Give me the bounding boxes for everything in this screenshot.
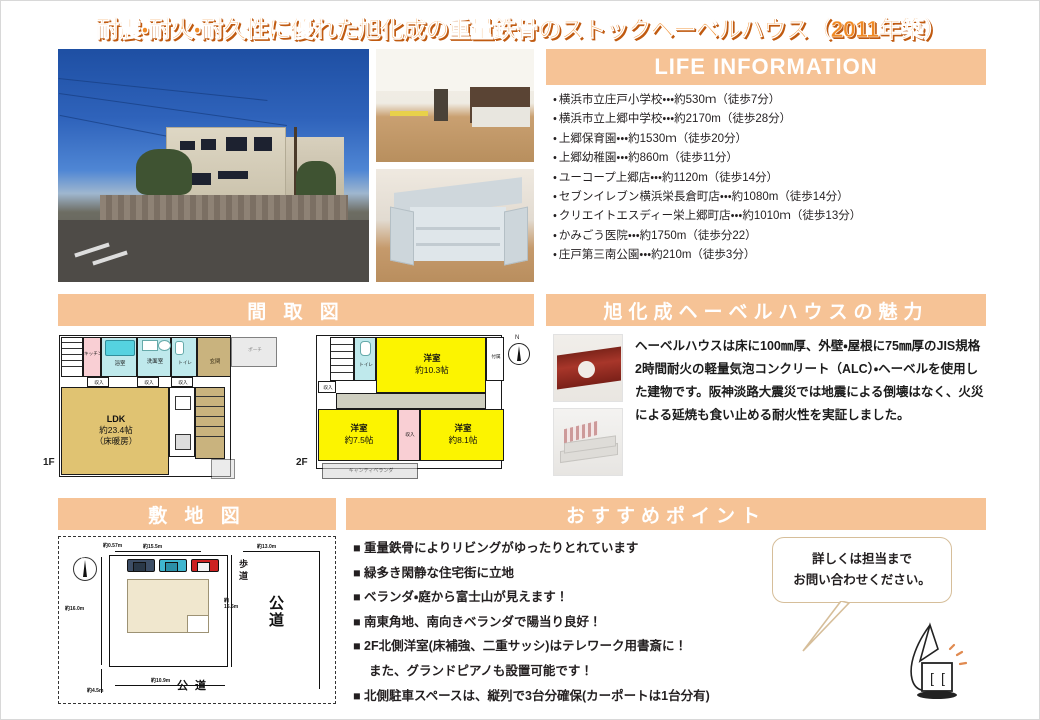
room-bathroom-1f[interactable]: 浴室 [101,337,137,377]
dimension-top: 約15.5m [143,543,162,550]
alc-panel-photo [553,408,623,476]
car-1 [127,559,155,572]
living-room-kitchen-photo [376,49,534,162]
page-title: 耐震・耐火・耐久性に優れた旭化成の重量鉄骨のストックヘーベルハウス（2011年築… [96,10,946,44]
flyer-title-bar: 耐震・耐火・耐久性に優れた旭化成の重量鉄骨のストックヘーベルハウス（2011年築… [1,9,1040,45]
list-item: 上郷保育園・・・約1530ｍ（徒歩20分） [553,130,989,149]
public-road-right-label: 公道 [265,595,286,629]
room-balcony-2f[interactable]: キャンティベランダ [322,463,418,479]
dimension-right: 約15.5m [224,599,236,610]
list-item: クリエイトエスディー栄上郷町店・・・約1010ｍ（徒歩13分） [553,207,989,226]
site-plan-frame: N 約0.57m 約15.5m 約13.0m 約16.0m 約15.5m 約10… [58,536,336,704]
svg-text:[: [ [941,670,945,686]
floor-plan-1f: キッチン 浴室 洗面室 トイレ 玄関 [59,331,279,479]
list-item: 横浜市立庄戸小学校・・・約530ｍ（徒歩7分） [553,91,989,110]
room-label-ldk-size: 約23.4帖 [62,426,170,436]
kitchen-cabinet-photo [376,169,534,282]
life-information-header: LIFE INFORMATION [546,49,986,85]
room-label: 付属 [487,354,505,359]
room-western-7-2f[interactable]: 洋室 約7.5帖 [318,409,398,461]
hebel-image-column [553,334,625,482]
room-label: 玄関 [198,360,232,365]
floor-plan-2f: トイレ 洋室 約10.3帖 付属 収入 洋室 約7.5帖 [316,331,526,479]
site-plan-header: 敷 地 図 [58,498,336,530]
list-item: また、グランドピアノも設置可能です！ [353,659,873,684]
room-label: 収入 [319,385,337,390]
room-label: トイレ [355,362,377,367]
room-stairs-2f [330,337,354,381]
sidewalk-label: 歩道 [237,559,250,583]
room-label-ldk-note: （床暖房） [62,437,170,447]
stair-hall-1f [195,387,225,459]
room-closet-2f[interactable]: 収入 [398,409,420,461]
room-kitchen-pantry-1f[interactable]: キッチン [83,337,101,377]
room-stairs-1f [61,337,83,377]
car-2 [159,559,187,572]
floor-2-label: 2F [296,457,308,468]
room-ldk-1f[interactable]: LDK 約23.4帖 （床暖房） [61,387,169,475]
recommended-points-header: おすすめポイント [346,498,986,530]
room-western-8-2f[interactable]: 洋室 約8.1帖 [420,409,504,461]
recommended-points-title: おすすめポイント [566,501,766,528]
list-item: ユーコープ上郷店・・・約1120m（徒歩14分） [553,169,989,188]
list-item: 北側駐車スペースは、縦列で3台分確保(カーポートは1台分有) [353,684,873,709]
dimension-bottom-left: 約4.5m [87,687,103,694]
compass-north-label: N [81,557,85,563]
dimension-left: 約16.0m [65,605,84,612]
site-plan-title: 敷 地 図 [148,501,246,528]
hebel-charm-body: ヘーベルハウスは床に100㎜厚、外壁・屋根に75㎜厚のJIS規格2時間耐火の軽量… [635,335,987,427]
floor-plan-header: 間 取 図 [58,294,534,326]
room-label: トイレ [172,360,198,365]
dimension-bottom: 約10.9m [151,677,170,684]
room-label: 洗面室 [138,360,172,365]
speech-bubble-tail [801,601,861,653]
list-item: かみごう医院・・・約1750m（徒歩分22） [553,227,989,246]
room-toilet-1f[interactable]: トイレ [171,337,197,377]
room-label: 収入 [172,380,194,385]
list-item: 上郷幼稚園・・・約860m（徒歩11分） [553,149,989,168]
bubble-line-1: 詳しくは担当まで [812,549,912,570]
hebel-charm-title: 旭化成ヘーベルハウスの魅力 [603,297,928,324]
room-storage-2[interactable]: 収入 [137,377,159,387]
svg-text:[: [ [930,670,934,686]
room-label: 収入 [88,380,110,385]
dimension-top-right: 約13.0m [257,543,276,550]
room-attic-storage-2f[interactable]: 付属 [486,337,504,381]
room-toilet-2f[interactable]: トイレ [354,337,376,381]
room-label: 浴室 [102,362,138,367]
pen-and-house-mascot: [ [ [886,619,972,705]
room-label: 収入 [138,380,160,385]
floor-1-label: 1F [43,457,55,468]
list-item: セブンイレブン横浜栄長倉町店・・・約1080m（徒歩14分） [553,188,989,207]
life-information-list: 横浜市立庄戸小学校・・・約530ｍ（徒歩7分） 横浜市立上郷中学校・・・約217… [553,91,989,266]
hebel-charm-header: 旭化成ヘーベルハウスの魅力 [546,294,986,326]
room-entrance-1f[interactable]: 玄関 [197,337,231,377]
life-information-title: LIFE INFORMATION [654,54,877,80]
compass-icon: N [73,557,97,581]
list-item: 庄戸第三南公園・・・約210m（徒歩3分） [553,246,989,265]
rear-deck-1f [211,459,235,479]
list-item: 南東角地、南向きベランダで陽当り良好！ [353,610,873,635]
room-storage-3[interactable]: 収入 [171,377,193,387]
room-label-size: 約10.3帖 [377,366,487,376]
car-3 [191,559,219,572]
room-label-ldk-name: LDK [62,414,170,425]
list-item: 2F北側洋室(床補強、二重サッシ)はテレワーク用書斎に！ [353,634,873,659]
room-closet-small-2f[interactable]: 収入 [318,381,336,393]
room-label: 収入 [399,432,421,437]
room-label: キャンティベランダ [323,469,419,474]
room-label-size: 約7.5帖 [319,436,399,446]
bubble-line-2: お問い合わせください。 [793,570,931,591]
room-label-size: 約8.1帖 [421,436,505,446]
floor-plan-title: 間 取 図 [247,297,345,324]
hall-2f [336,393,486,409]
flyer-page: 耐震・耐火・耐久性に優れた旭化成の重量鉄骨のストックヘーベルハウス（2011年築… [0,0,1040,720]
room-porch-1f[interactable]: ポーチ [231,337,277,367]
room-label: キッチン [84,351,102,356]
dimension-top-left: 約0.57m [103,542,122,549]
room-label: ポーチ [232,347,278,352]
public-road-bottom-label: 公 道 [177,677,208,693]
room-western-10-2f[interactable]: 洋室 約10.3帖 [376,337,486,393]
steel-beam-photo [553,334,623,402]
room-label-name: 洋室 [377,354,487,364]
list-item: 横浜市立上郷中学校・・・約2170m（徒歩28分） [553,110,989,129]
room-label-name: 洋室 [319,424,399,434]
compass-icon: N [508,343,530,365]
room-storage-1[interactable]: 収入 [87,377,109,387]
exterior-street-view-photo [58,49,369,282]
contact-speech-bubble: 詳しくは担当まで お問い合わせください。 [772,537,952,603]
room-washroom-1f[interactable]: 洗面室 [137,337,171,377]
room-label-name: 洋室 [421,424,505,434]
compass-north-label: N [515,335,519,341]
kitchen-counter-1f [169,387,195,457]
floor-plan-body: 1F キッチン 浴室 [41,331,541,491]
